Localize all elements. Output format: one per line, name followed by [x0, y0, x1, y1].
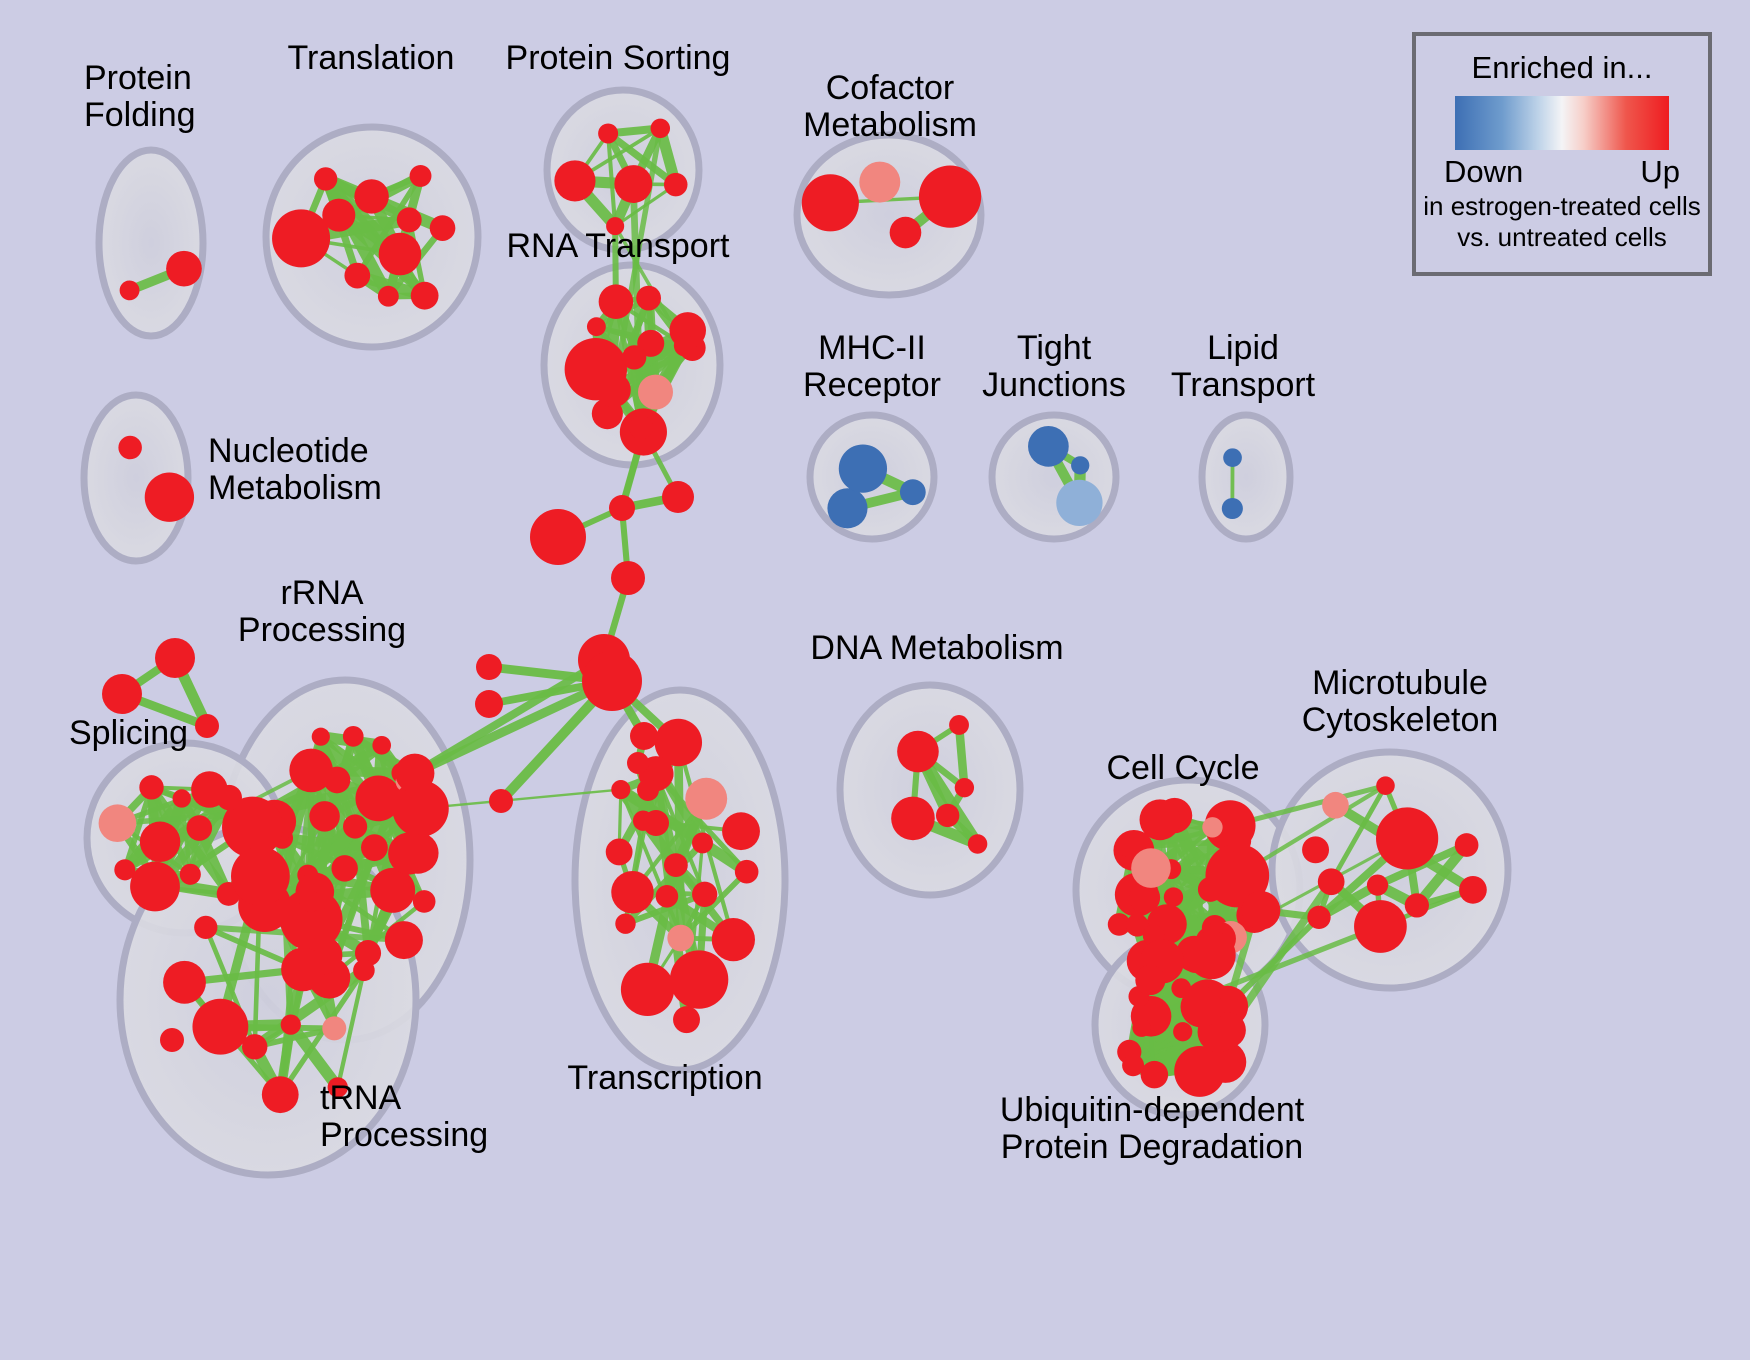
network-node	[1173, 1022, 1192, 1041]
legend-down-label: Down	[1444, 154, 1523, 190]
network-node	[919, 165, 981, 227]
network-node	[1202, 817, 1222, 837]
network-node	[968, 834, 987, 853]
network-node	[621, 963, 674, 1016]
cluster-label-cofactor-metab: CofactorMetabolism	[803, 70, 977, 143]
network-node	[312, 728, 330, 746]
network-node	[120, 280, 140, 300]
network-node	[630, 722, 658, 750]
network-node	[1455, 833, 1479, 857]
cluster-label-protein-sorting: Protein Sorting	[506, 40, 731, 77]
network-node	[195, 714, 219, 738]
network-node	[949, 715, 969, 735]
network-node	[1131, 848, 1171, 888]
network-node	[272, 209, 330, 267]
network-node	[638, 375, 673, 410]
network-node	[664, 173, 688, 197]
network-node	[667, 925, 694, 952]
network-node	[194, 916, 217, 939]
network-node	[1227, 829, 1251, 853]
network-node	[163, 961, 206, 1004]
cluster-hull-lipid-transport	[1202, 415, 1290, 539]
network-node	[397, 207, 422, 232]
network-node	[692, 882, 717, 907]
network-node	[1222, 498, 1243, 519]
network-node	[166, 251, 202, 287]
network-node	[1132, 1019, 1150, 1037]
network-node	[309, 801, 340, 832]
network-node	[160, 1028, 184, 1052]
network-node	[118, 436, 142, 460]
network-node	[186, 815, 212, 841]
network-node	[722, 812, 760, 850]
cluster-label-rrna-processing: rRNAProcessing	[238, 575, 406, 648]
network-node	[1140, 799, 1181, 840]
network-node	[344, 263, 370, 289]
network-node	[1318, 868, 1345, 895]
network-node	[180, 864, 201, 885]
network-node	[1164, 887, 1183, 906]
network-node	[582, 651, 642, 711]
network-node	[99, 804, 137, 842]
cluster-label-cell-cycle: Cell Cycle	[1106, 750, 1259, 787]
network-node	[155, 638, 195, 678]
network-node	[413, 890, 436, 913]
network-node	[379, 233, 422, 276]
network-node	[102, 674, 142, 714]
network-node	[1376, 776, 1395, 795]
cluster-label-tight-junctions: TightJunctions	[982, 330, 1126, 403]
network-node	[735, 860, 759, 884]
network-node	[955, 778, 974, 797]
legend-endpoints: Down Up	[1444, 154, 1680, 190]
network-node	[1322, 792, 1349, 819]
network-node	[891, 797, 935, 841]
network-node	[378, 286, 399, 307]
network-node	[331, 855, 357, 881]
network-node	[1228, 860, 1250, 882]
network-node	[216, 785, 242, 811]
network-node	[140, 822, 180, 862]
network-node	[670, 950, 728, 1008]
network-node	[685, 778, 727, 820]
network-node	[1071, 456, 1089, 474]
cluster-label-microtubule: MicrotubuleCytoskeleton	[1302, 665, 1499, 738]
network-node	[936, 804, 959, 827]
network-node	[890, 217, 922, 249]
network-node	[430, 215, 456, 241]
network-node	[587, 317, 606, 336]
network-node	[281, 1015, 301, 1035]
network-node	[300, 890, 321, 911]
network-node	[656, 885, 679, 908]
network-node	[712, 918, 755, 961]
legend-subtitle-line2: vs. untreated cells	[1457, 223, 1667, 252]
network-node	[839, 444, 887, 492]
cluster-label-translation: Translation	[288, 40, 455, 77]
network-node	[596, 373, 631, 408]
network-node	[385, 921, 423, 959]
cluster-label-mhc-ii-receptor: MHC-IIReceptor	[803, 330, 941, 403]
network-node	[130, 862, 180, 912]
network-node	[262, 1076, 299, 1113]
network-node	[1122, 1054, 1144, 1076]
network-node	[643, 810, 669, 836]
network-node	[1242, 891, 1281, 930]
cluster-label-protein-folding: ProteinFolding	[84, 60, 196, 133]
cluster-label-transcription: Transcription	[567, 1060, 762, 1097]
network-node	[145, 473, 194, 522]
network-node	[802, 174, 859, 231]
cluster-label-dna-metabolism: DNA Metabolism	[810, 630, 1063, 667]
network-node	[372, 736, 391, 755]
network-node	[1117, 837, 1136, 856]
network-node	[897, 731, 939, 773]
network-node	[231, 847, 290, 906]
network-node	[1056, 480, 1102, 526]
network-node	[343, 814, 367, 838]
network-node	[322, 1016, 346, 1040]
network-node	[611, 871, 653, 913]
network-node	[192, 999, 248, 1055]
legend-color-gradient	[1455, 96, 1669, 150]
network-node	[353, 960, 375, 982]
network-node	[827, 488, 867, 528]
network-node	[361, 834, 388, 861]
network-node	[629, 416, 653, 440]
network-node	[611, 780, 630, 799]
network-node	[611, 561, 645, 595]
network-node	[637, 779, 659, 801]
network-node	[1181, 986, 1222, 1027]
network-node	[281, 948, 325, 992]
network-node	[1302, 836, 1329, 863]
network-node	[476, 654, 502, 680]
network-node	[692, 832, 713, 853]
network-node	[1028, 426, 1069, 467]
network-node	[139, 775, 163, 799]
legend-subtitle-line1: in estrogen-treated cells	[1423, 192, 1700, 221]
network-node	[662, 481, 694, 513]
network-node	[627, 752, 649, 774]
network-node	[1198, 877, 1223, 902]
network-node	[395, 754, 434, 793]
network-node	[900, 479, 926, 505]
cluster-label-rna-transport: RNA Transport	[507, 228, 730, 265]
network-node	[622, 345, 646, 369]
network-node	[1354, 900, 1407, 953]
network-node	[173, 789, 191, 807]
network-node	[324, 767, 351, 794]
network-node	[314, 167, 337, 190]
network-node	[598, 123, 618, 143]
legend-up-label: Up	[1640, 154, 1680, 190]
network-node	[609, 495, 635, 521]
network-node	[1223, 448, 1242, 467]
network-node	[1376, 807, 1438, 869]
network-node	[1141, 1061, 1169, 1089]
network-node	[636, 286, 661, 311]
network-node	[411, 282, 439, 310]
network-node	[859, 162, 900, 203]
network-node	[343, 726, 364, 747]
network-node	[1367, 874, 1388, 895]
network-node	[1459, 876, 1487, 904]
network-node	[599, 284, 634, 319]
network-node	[1405, 893, 1429, 917]
network-node	[673, 1006, 700, 1033]
network-node	[489, 789, 513, 813]
network-node	[354, 179, 388, 213]
cluster-label-lipid-transport: LipidTransport	[1171, 330, 1315, 403]
legend-panel: Enriched in... Down Up in estrogen-treat…	[1412, 32, 1712, 276]
enrichment-map-figure: ProteinFoldingTranslationProtein Sorting…	[0, 0, 1750, 1360]
network-node	[1183, 949, 1207, 973]
network-node	[530, 509, 586, 565]
cluster-label-splicing: Splicing	[69, 715, 188, 752]
cluster-label-ubiquitin: Ubiquitin-dependentProtein Degradation	[1000, 1092, 1304, 1165]
network-node	[615, 913, 635, 933]
cluster-hull-protein-folding	[99, 150, 203, 336]
network-node	[606, 839, 633, 866]
cluster-hull-dna-metabolism	[840, 685, 1020, 895]
legend-title: Enriched in...	[1472, 50, 1653, 86]
network-node	[614, 165, 652, 203]
network-node	[410, 165, 432, 187]
network-node	[475, 690, 503, 718]
network-node	[664, 853, 688, 877]
network-node	[388, 832, 430, 874]
network-node	[1135, 965, 1165, 995]
cluster-label-trna-processing: tRNAProcessing	[320, 1080, 488, 1153]
network-node	[554, 160, 595, 201]
cluster-label-nucleotide-metab: NucleotideMetabolism	[208, 433, 382, 506]
network-node	[674, 335, 696, 357]
network-node	[651, 119, 670, 138]
network-node	[1307, 906, 1330, 929]
